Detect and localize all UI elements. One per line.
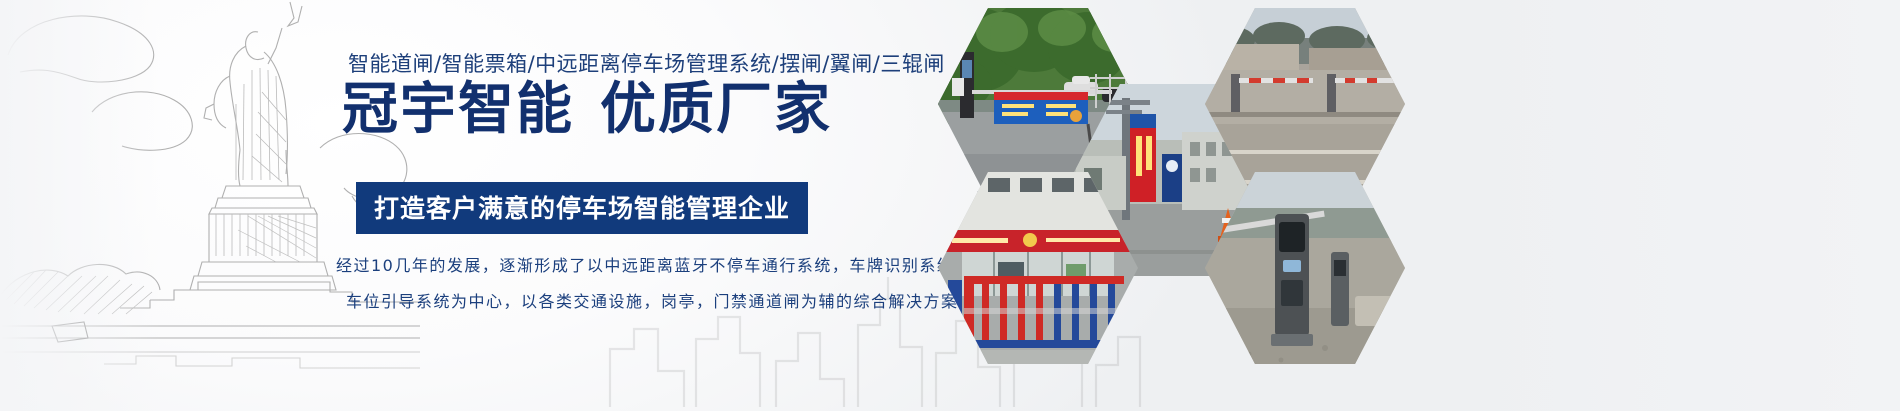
banner-kicker: 智能道闸/智能票箱/中远距离停车场管理系统/摆闸/翼闸/三辊闸 xyxy=(348,48,945,78)
headline-left: 冠宇智能 xyxy=(342,77,574,142)
banner-headline: 冠宇智能优质厂家 xyxy=(342,82,832,138)
description-line-2: 车位引导系统为中心，以各类交通设施，岗亭，门禁通道闸为辅的综合解决方案提供商 xyxy=(336,284,936,320)
headline-right: 优质厂家 xyxy=(600,77,832,142)
right-fade-overlay xyxy=(1440,0,1900,411)
description-line-1: 经过10几年的发展，逐渐形成了以中远距离蓝牙不停车通行系统，车牌识别系统 xyxy=(336,248,936,284)
banner-description: 经过10几年的发展，逐渐形成了以中远距离蓝牙不停车通行系统，车牌识别系统 车位引… xyxy=(336,248,936,320)
photo-hexagon-cluster xyxy=(920,0,1460,411)
banner-subbar: 打造客户满意的停车场智能管理企业 xyxy=(356,182,808,234)
banner-copy: 智能道闸/智能票箱/中远距离停车场管理系统/摆闸/翼闸/三辊闸 冠宇智能优质厂家… xyxy=(336,0,936,411)
promo-banner: 智能道闸/智能票箱/中远距离停车场管理系统/摆闸/翼闸/三辊闸 冠宇智能优质厂家… xyxy=(0,0,1900,411)
